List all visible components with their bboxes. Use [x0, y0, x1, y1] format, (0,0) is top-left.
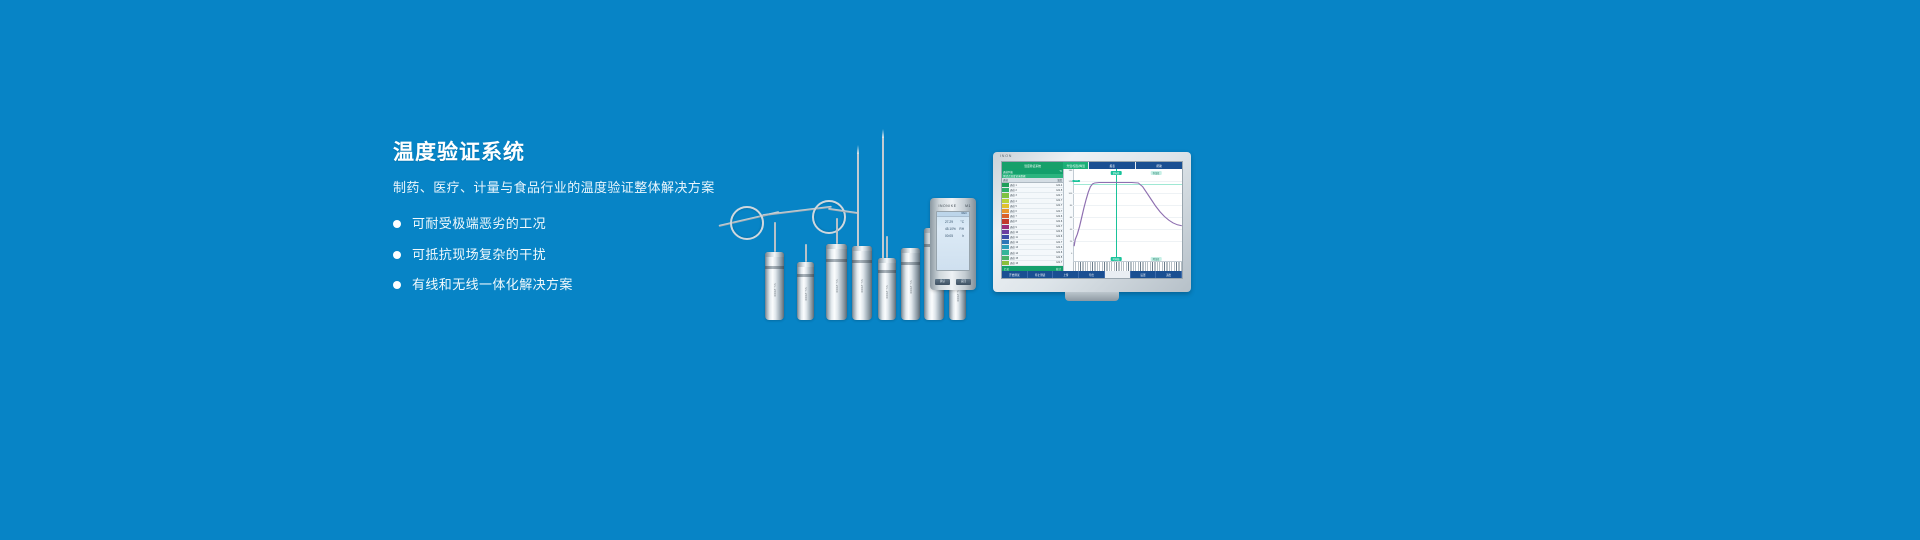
channel-name: 通道 1	[1009, 183, 1056, 187]
channel-name: 通道 13	[1009, 245, 1056, 249]
data-logger: VL-2000	[826, 244, 847, 320]
channel-color-swatch	[1002, 214, 1009, 218]
channel-color-swatch	[1002, 219, 1009, 223]
channel-color-swatch	[1002, 261, 1009, 265]
channel-color-swatch	[1002, 199, 1009, 203]
logger-label: VL-2000	[956, 288, 960, 301]
channel-value: 121.7	[1056, 225, 1063, 228]
toolbar-item-help[interactable]: 帮助	[1135, 162, 1182, 169]
channel-value: 121.7	[1056, 204, 1063, 207]
toolbar-spacer	[1105, 271, 1131, 278]
channel-name: 通道 6	[1009, 209, 1056, 213]
reading-label: 00:05	[945, 234, 953, 238]
channel-name: 通道 15	[1009, 256, 1056, 260]
handheld-reading-row: 27.29 °C	[937, 217, 969, 224]
channel-value: 121.5	[1056, 256, 1063, 259]
channel-name: 通道 7	[1009, 214, 1056, 218]
temperature-chart: 140 120 100 80 60 40 20 0	[1064, 169, 1182, 271]
sidebar-footer-stats[interactable]: 统计	[1056, 267, 1061, 271]
channel-color-swatch	[1002, 230, 1009, 234]
logger-label: VL-2000	[835, 279, 839, 292]
probe-stem	[774, 222, 776, 252]
y-tick-label: 140	[1069, 170, 1073, 172]
logger-label: VL-2000	[885, 285, 889, 298]
logger-band	[901, 262, 920, 265]
reading-label: 27.29	[945, 220, 953, 224]
channel-value: 121.5	[1056, 189, 1063, 192]
chart-curve	[1073, 169, 1182, 262]
channel-color-swatch	[1002, 225, 1009, 229]
handheld-screen: REC 27.29 °C 45.10% RH 00:05 h	[936, 211, 970, 271]
data-logger: VL-2000	[797, 262, 814, 320]
channel-name: 通道 14	[1009, 251, 1056, 255]
start-test-button[interactable]: 开始测试	[1002, 271, 1028, 278]
channel-value: 121.5	[1056, 230, 1063, 233]
channel-value: 121.7	[1056, 261, 1063, 264]
software-top-toolbar: 温度验证系统 升温/恒温/降温 报表 帮助	[1002, 162, 1182, 169]
channel-name: 通道 4	[1009, 199, 1056, 203]
probe-stem	[805, 244, 807, 262]
channel-color-swatch	[1002, 209, 1009, 213]
upload-button[interactable]: 上传	[1053, 271, 1079, 278]
handheld-reading-row: 45.10% RH	[937, 224, 969, 231]
monitor-stand	[1065, 292, 1119, 301]
logger-cap	[765, 252, 784, 257]
channel-color-swatch	[1002, 250, 1009, 254]
feature-label: 可耐受极端恶劣的工况	[412, 215, 546, 233]
y-tick-label: 20	[1070, 241, 1072, 243]
channel-name: 通道 8	[1009, 219, 1056, 223]
logger-label: VL-2000	[804, 287, 808, 300]
handheld-keypad: 确认 返回	[935, 279, 971, 285]
column-header-temp: 温度	[1057, 178, 1062, 182]
logger-label: VL-2000	[909, 280, 913, 293]
logger-band	[765, 266, 784, 269]
reading-unit: °C	[960, 220, 964, 224]
channel-name: 通道 3	[1009, 193, 1056, 197]
data-logger: VL-2000	[765, 252, 784, 320]
channel-value: 121.7	[1056, 199, 1063, 202]
toolbar-item-phase[interactable]: 升温/恒温/降温	[1063, 162, 1088, 169]
handheld-reader-device[interactable]: INONIKE M1 REC 27.29 °C 45.10% RH 00:05 …	[930, 198, 976, 290]
channel-value: 121.6	[1056, 251, 1063, 254]
channel-name: 通道 5	[1009, 204, 1056, 208]
logger-cap	[826, 244, 847, 249]
channel-value: 121.6	[1056, 215, 1063, 218]
bullet-dot-icon	[393, 281, 401, 289]
monitor-brand-label: INON	[1000, 154, 1012, 158]
channel-name: 通道 16	[1009, 261, 1056, 265]
device-model-text: M1	[965, 204, 971, 208]
software-body: 通道列表 ℃ 测试点温度记录数据 通道 温度 通道 1121.4 通道 2121…	[1002, 169, 1182, 271]
logger-cap	[878, 258, 896, 263]
device-brand-text: INONIKE	[938, 204, 956, 208]
back-button[interactable]: 返回	[956, 279, 971, 285]
software-screen: 温度验证系统 升温/恒温/降温 报表 帮助 通道列表 ℃ 测试点温度记录数据 通…	[1001, 161, 1183, 279]
logger-band	[826, 259, 847, 262]
channel-color-swatch	[1002, 204, 1009, 208]
channel-value: 121.6	[1056, 246, 1063, 249]
channel-value: 121.6	[1056, 235, 1063, 238]
reading-unit: h	[962, 234, 964, 238]
logger-cap	[852, 246, 872, 251]
reading-unit: RH	[959, 227, 964, 231]
toolbar-item-report[interactable]: 报表	[1088, 162, 1135, 169]
feature-label: 有线和无线一体化解决方案	[412, 276, 573, 294]
logger-cap	[797, 262, 814, 267]
device-brand-label: INONIKE M1	[930, 204, 976, 208]
sidebar-header-label: 通道列表	[1003, 170, 1013, 174]
data-logger: VL-2000	[878, 258, 896, 320]
logger-band	[797, 274, 814, 277]
software-bottom-toolbar: 开始测试 停止测试 上传 导出 设置 退出	[1002, 271, 1182, 278]
channel-color-swatch	[1002, 256, 1009, 260]
reading-label: 45.10%	[945, 227, 956, 231]
channel-value: 121.7	[1056, 194, 1063, 197]
channel-value: 121.4	[1056, 184, 1063, 187]
bullet-dot-icon	[393, 251, 401, 259]
channel-value: 121.7	[1056, 241, 1063, 244]
channel-name: 通道 10	[1009, 230, 1056, 234]
probe-stem	[836, 218, 838, 244]
settings-button[interactable]: 设置	[1131, 271, 1157, 278]
panel-monitor: INON 温度验证系统 升温/恒温/降温 报表 帮助 通道列表 ℃ 测试点温度记…	[993, 152, 1191, 292]
logger-band	[878, 270, 896, 273]
channel-name: 通道 2	[1009, 188, 1056, 192]
probe-coil-icon	[730, 206, 764, 240]
exit-button[interactable]: 退出	[1156, 271, 1182, 278]
channel-name: 通道 12	[1009, 240, 1056, 244]
export-button[interactable]: 导出	[1079, 271, 1105, 278]
probe-stem	[886, 236, 888, 258]
channel-color-swatch	[1002, 240, 1009, 244]
y-tick-label: 80	[1070, 205, 1072, 207]
logger-band	[852, 260, 872, 263]
product-photo-group: VL-2000 VL-2000 VL-2000 VL-2000 VL-2000	[700, 110, 1220, 320]
channel-name: 通道 9	[1009, 225, 1056, 229]
bullet-dot-icon	[393, 220, 401, 228]
logger-cap	[901, 248, 920, 253]
channel-color-swatch	[1002, 193, 1009, 197]
column-header-channel: 通道	[1003, 178, 1008, 182]
toolbar-item-title[interactable]: 温度验证系统	[1002, 162, 1063, 169]
data-logger: VL-2000	[852, 246, 872, 320]
y-tick-label: 100	[1069, 193, 1073, 195]
logger-label: VL-2000	[773, 283, 777, 296]
confirm-button[interactable]: 确认	[935, 279, 950, 285]
channel-color-swatch	[1002, 245, 1009, 249]
logger-label: VL-2000	[860, 279, 864, 292]
channel-color-swatch	[1002, 183, 1009, 187]
sidebar-header-unit: ℃	[1059, 170, 1062, 173]
feature-label: 可抵抗现场复杂的干扰	[412, 246, 546, 264]
channel-sidebar: 通道列表 ℃ 测试点温度记录数据 通道 温度 通道 1121.4 通道 2121…	[1002, 169, 1064, 271]
channel-color-swatch	[1002, 188, 1009, 192]
channel-color-swatch	[1002, 235, 1009, 239]
probe-coil-icon	[812, 200, 846, 234]
hero-banner: 温度验证系统 制药、医疗、计量与食品行业的温度验证整体解决方案 可耐受极端恶劣的…	[0, 0, 1920, 540]
stop-test-button[interactable]: 停止测试	[1028, 271, 1054, 278]
channel-table: 通道 1121.4 通道 2121.5 通道 3121.7 通道 4121.7 …	[1002, 183, 1063, 266]
y-tick-label: 40	[1070, 229, 1072, 231]
channel-name: 通道 11	[1009, 235, 1056, 239]
chart-x-axis	[1073, 261, 1182, 271]
y-tick-label: 60	[1070, 217, 1072, 219]
handheld-reading-row: 00:05 h	[937, 231, 969, 238]
sidebar-footer-summary[interactable]: 汇总	[1004, 267, 1009, 271]
channel-value: 121.6	[1056, 220, 1063, 223]
y-tick-label: 0	[1071, 253, 1072, 255]
channel-value: 121.7	[1056, 210, 1063, 213]
data-logger: VL-2000	[901, 248, 920, 320]
